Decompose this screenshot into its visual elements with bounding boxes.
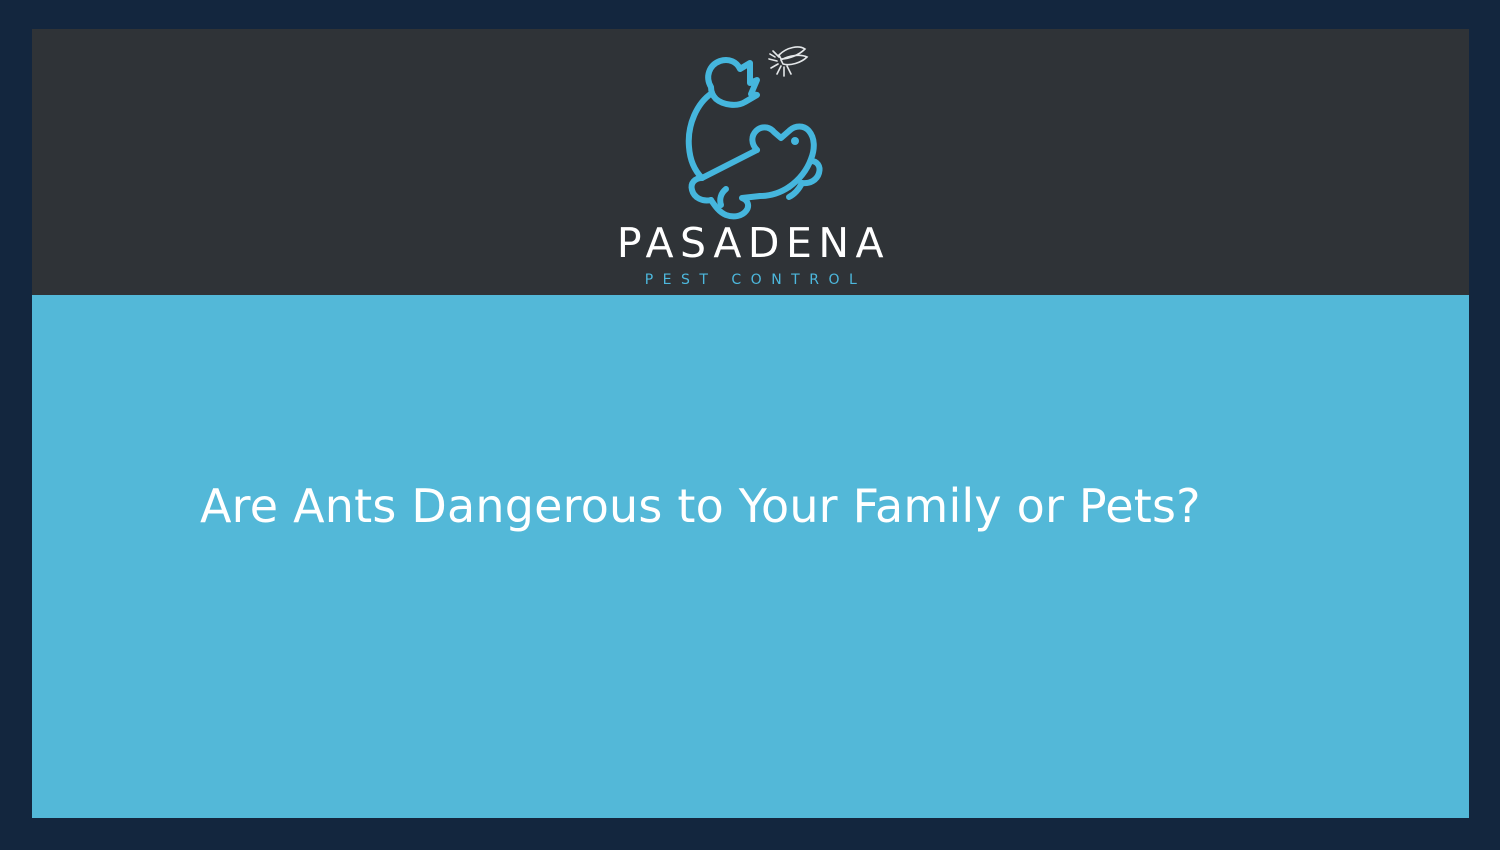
title-band: Are Ants Dangerous to Your Family or Pet… bbox=[32, 295, 1469, 818]
content-panel: PASADENA PEST CONTROL Are Ants Dangerous… bbox=[32, 29, 1469, 818]
brand-tagline: PEST CONTROL bbox=[635, 273, 867, 287]
rodent-and-insect-logo bbox=[671, 37, 831, 227]
brand-lockup: PASADENA PEST CONTROL bbox=[601, 37, 901, 287]
flying-insect-icon bbox=[769, 47, 807, 76]
brand-header: PASADENA PEST CONTROL bbox=[32, 29, 1469, 295]
page-title: Are Ants Dangerous to Your Family or Pet… bbox=[200, 478, 1380, 536]
slide-canvas: PASADENA PEST CONTROL Are Ants Dangerous… bbox=[0, 0, 1500, 850]
brand-name: PASADENA bbox=[611, 223, 890, 264]
